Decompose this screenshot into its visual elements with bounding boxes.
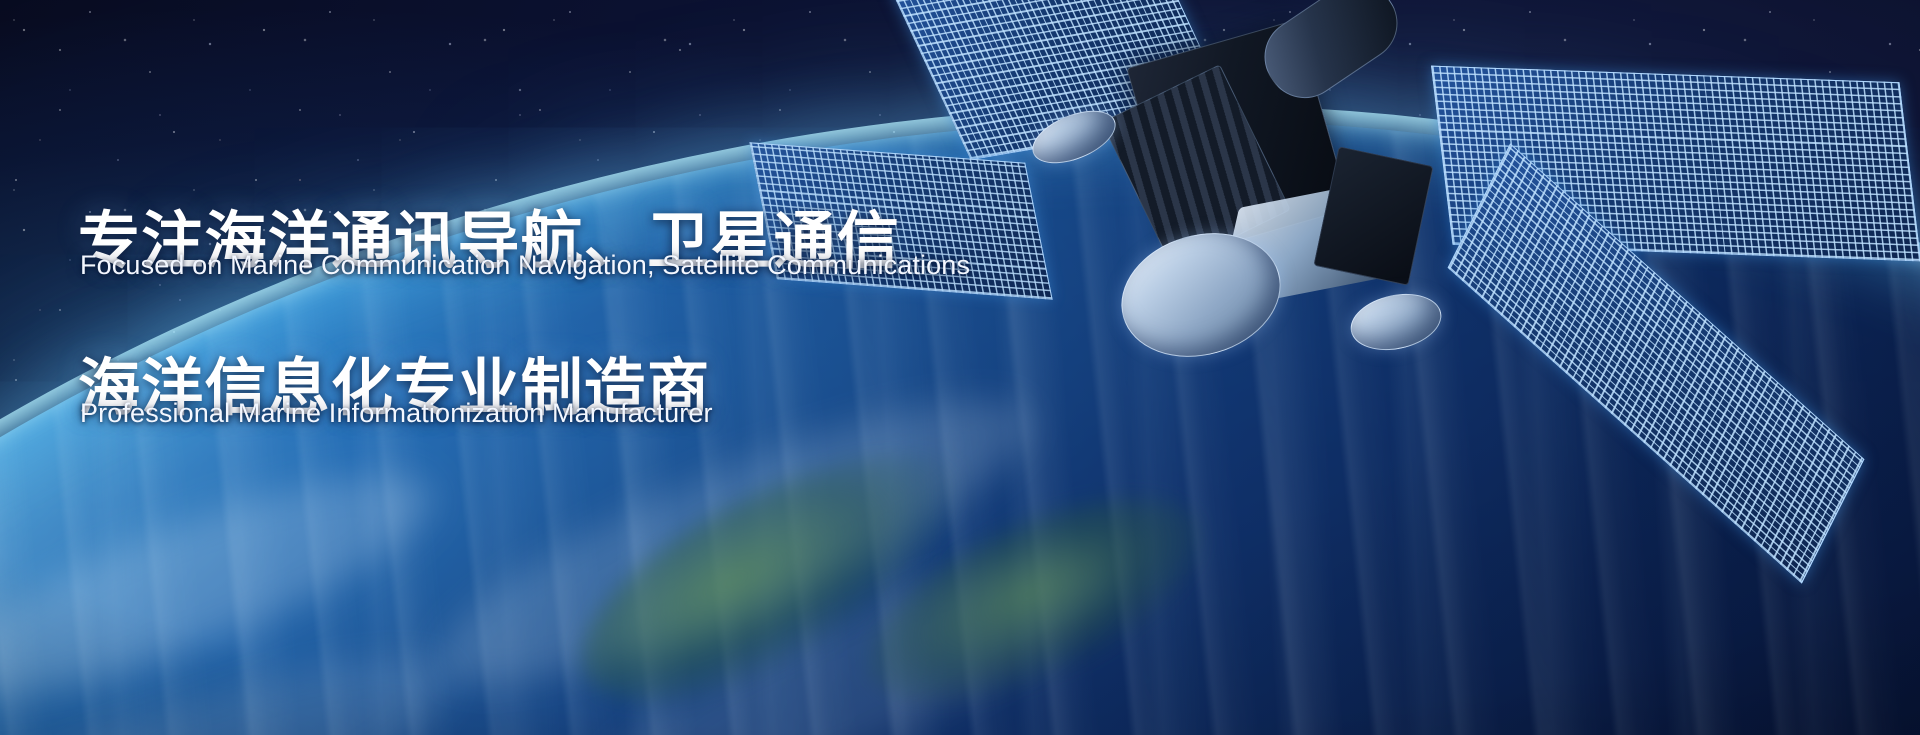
hero-banner: 专注海洋通讯导航、卫星通信 Focused on Marine Communic…: [0, 0, 1920, 735]
headline-secondary-en: Professional Marine Informationization M…: [80, 398, 713, 429]
headline-primary-en: Focused on Marine Communication Navigati…: [80, 250, 970, 281]
hero-copy: 专注海洋通讯导航、卫星通信 Focused on Marine Communic…: [0, 0, 1920, 735]
